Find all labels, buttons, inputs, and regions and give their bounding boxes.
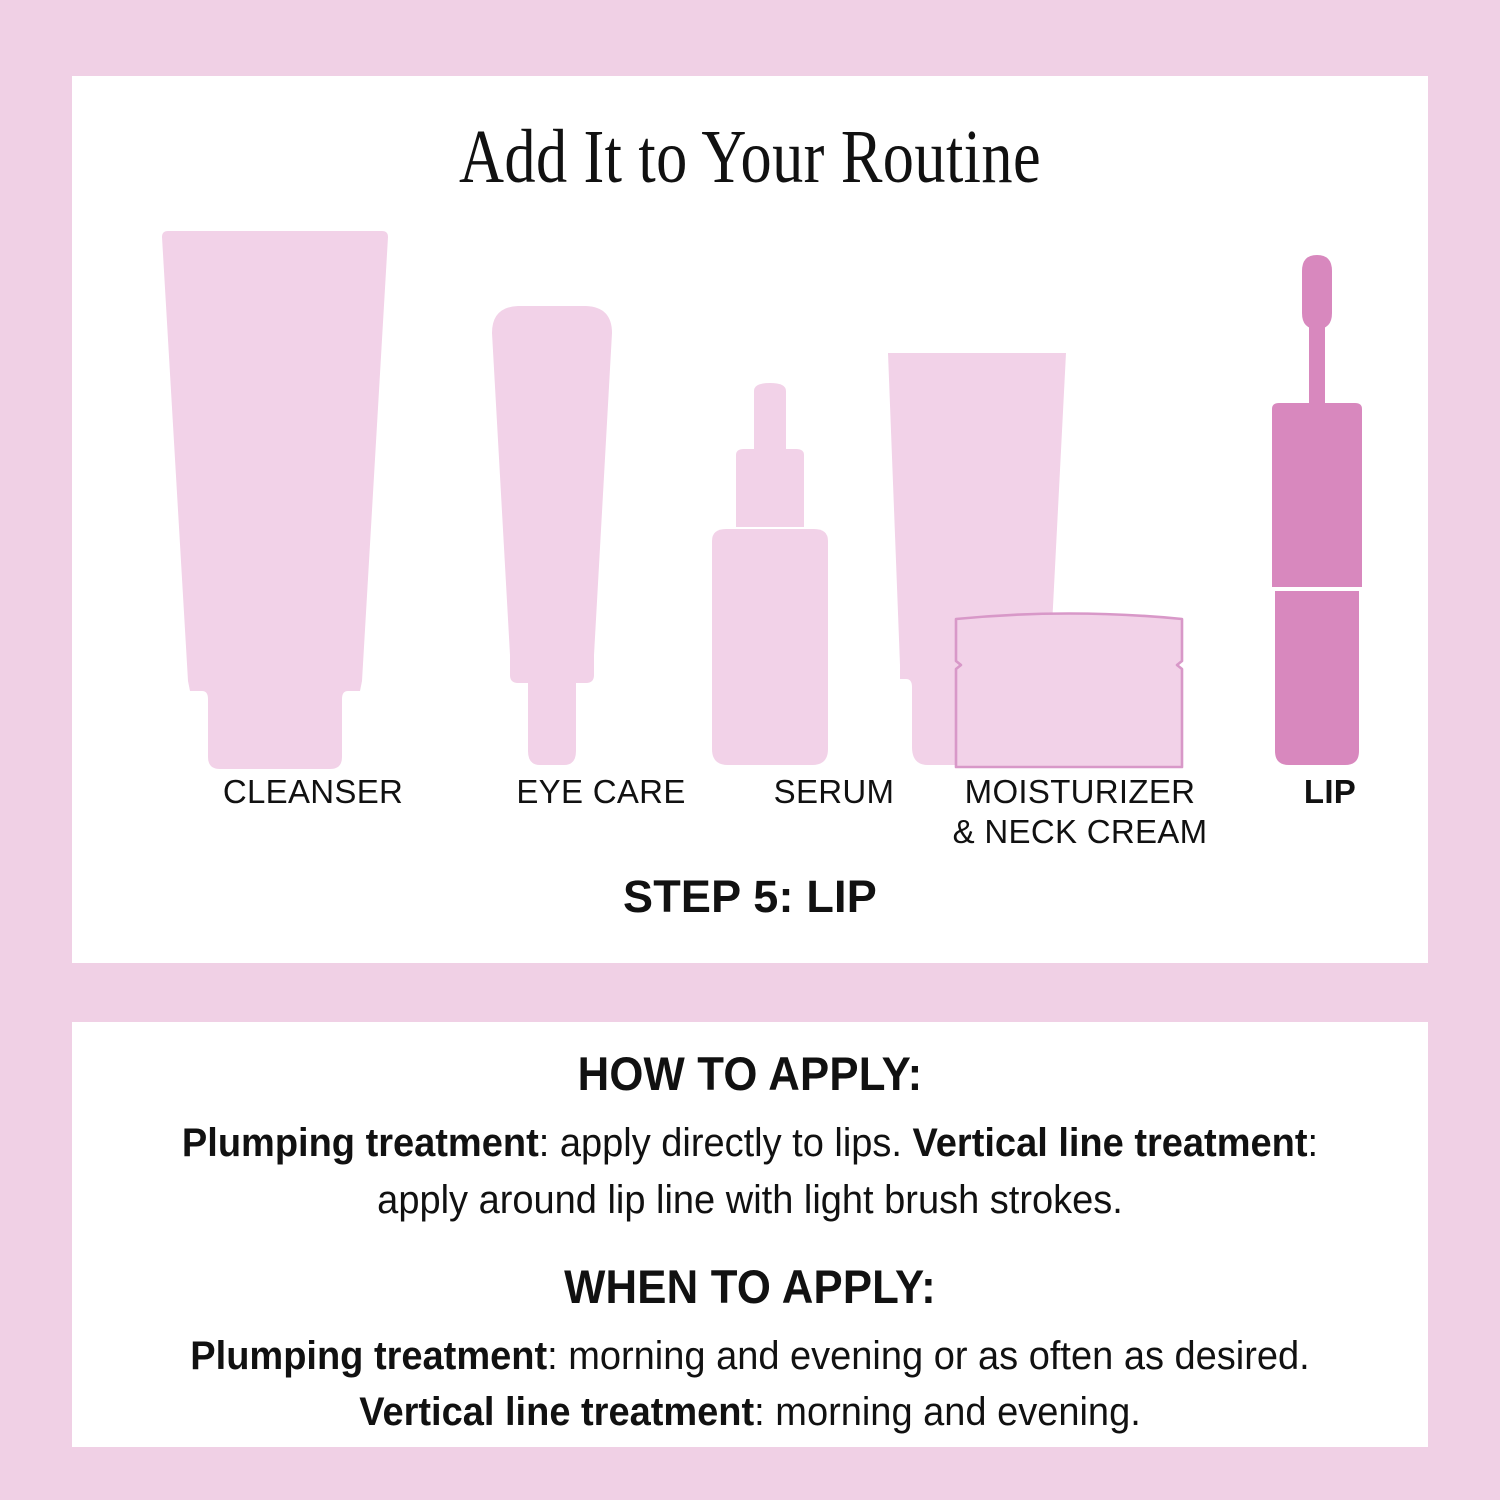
when-text-plumping: : morning and evening or as often as des…: [547, 1334, 1310, 1378]
when-text-vertical-line: : morning and evening.: [754, 1390, 1141, 1434]
when-to-apply-body: Plumping treatment: morning and evening …: [134, 1328, 1365, 1442]
routine-panel: Add It to Your Routine: [72, 76, 1428, 963]
product-label-lip: LIP: [1230, 772, 1430, 812]
product-label-eye-care: EYE CARE: [456, 772, 746, 812]
neck-cream-jar-icon: [952, 605, 1186, 771]
when-line-vertical-line: Vertical line treatment: morning and eve…: [134, 1384, 1365, 1441]
serum-dropper-bottle-icon: [700, 381, 840, 771]
product-label-cleanser: CLEANSER: [168, 772, 458, 812]
instructions-block: HOW TO APPLY: Plumping treatment: apply …: [102, 1046, 1398, 1441]
product-label-moisturizer: MOISTURIZER & NECK CREAM: [910, 772, 1250, 853]
eye-care-tube-icon: [472, 303, 632, 771]
step-heading: STEP 5: LIP: [72, 871, 1428, 923]
infographic-canvas: Add It to Your Routine: [0, 0, 1500, 1500]
how-text-plumping: : apply directly to lips.: [539, 1121, 913, 1165]
product-lineup: [72, 201, 1428, 771]
product-labels: CLEANSER EYE CARE SERUM MOISTURIZER & NE…: [72, 772, 1428, 882]
how-term-plumping: Plumping treatment: [182, 1121, 539, 1165]
lip-wand-icon: [1262, 251, 1372, 771]
how-term-vertical-line: Vertical line treatment: [913, 1121, 1308, 1165]
when-line-plumping: Plumping treatment: morning and evening …: [134, 1328, 1365, 1385]
how-to-apply-body: Plumping treatment: apply directly to li…: [134, 1115, 1365, 1229]
instructions-panel: HOW TO APPLY: Plumping treatment: apply …: [72, 1022, 1428, 1447]
page-title: Add It to Your Routine: [194, 114, 1306, 201]
when-to-apply-title: WHEN TO APPLY:: [147, 1259, 1352, 1314]
cleanser-tube-icon: [150, 229, 400, 771]
how-to-apply-title: HOW TO APPLY:: [147, 1046, 1352, 1101]
when-term-vertical-line: Vertical line treatment: [359, 1390, 754, 1434]
when-term-plumping: Plumping treatment: [190, 1334, 547, 1378]
